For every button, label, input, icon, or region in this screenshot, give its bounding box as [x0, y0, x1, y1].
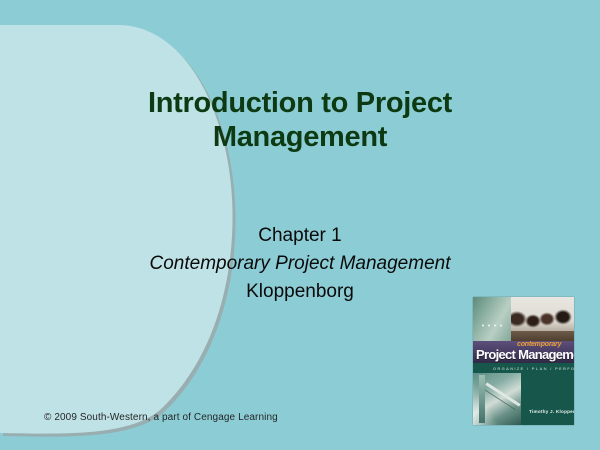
cover-glass-panel	[473, 297, 511, 343]
title-line-1: Introduction to Project	[60, 86, 540, 120]
subtitle-chapter: Chapter 1	[60, 222, 540, 250]
copyright-footer: © 2009 South-Western, a part of Cengage …	[44, 412, 278, 423]
subtitle-author: Kloppenborg	[60, 278, 540, 306]
cover-author-name: Timothy J. Kloppenborg	[529, 409, 574, 414]
book-cover-image: contemporary Project Management ORGANIZE…	[473, 297, 574, 425]
subtitle-book-title: Contemporary Project Management	[60, 250, 540, 278]
cover-architecture-photo	[473, 373, 521, 425]
cover-main-title: Project Management	[476, 347, 574, 362]
title-line-2: Management	[60, 120, 540, 154]
cover-tagline: ORGANIZE / PLAN / PERFORM	[493, 366, 574, 371]
cover-meeting-photo	[473, 297, 574, 343]
presentation-slide: Introduction to Project Management Chapt…	[0, 0, 600, 450]
slide-subtitle: Chapter 1 Contemporary Project Managemen…	[60, 222, 540, 306]
slide-title: Introduction to Project Management	[60, 86, 540, 154]
